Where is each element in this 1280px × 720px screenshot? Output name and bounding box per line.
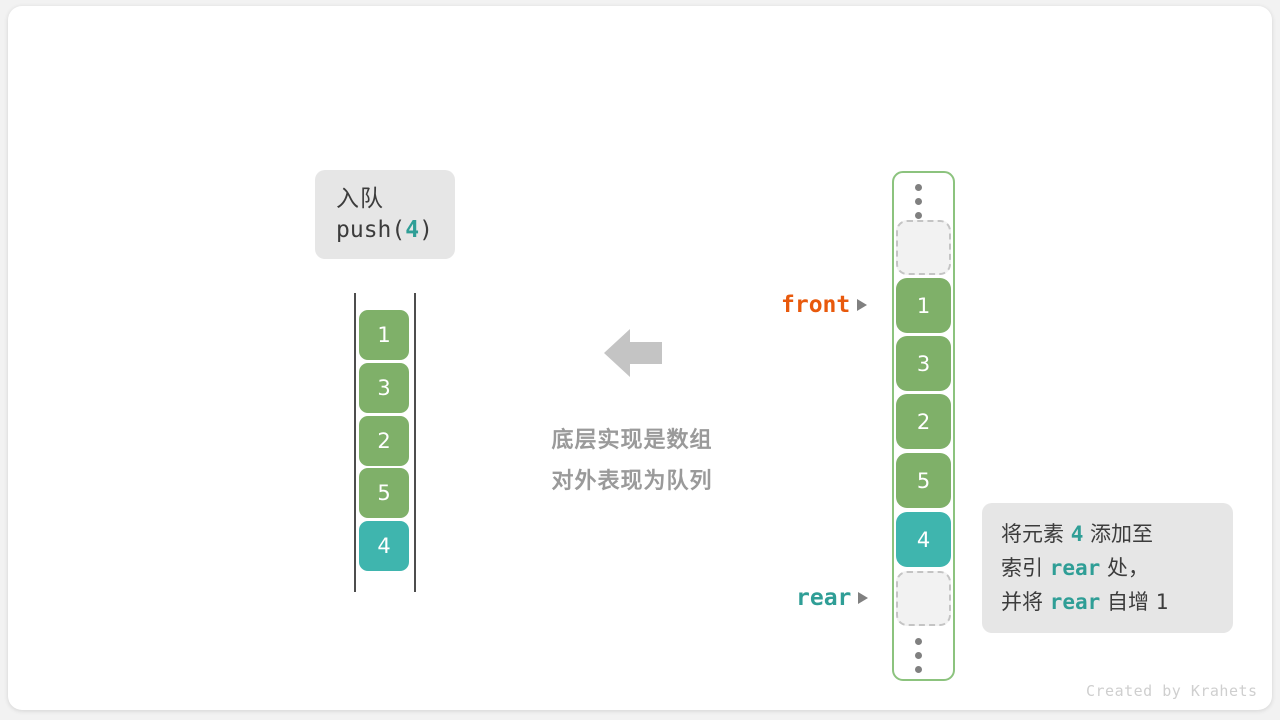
- diagram-card: 入队 push(4) 1 3 2 5 4 底层实现是数组 对外表现为队列 1 3…: [8, 6, 1272, 710]
- array-cell-value: 5: [917, 469, 930, 493]
- pointer-rear-label: rear: [796, 585, 851, 611]
- vertical-ellipsis-icon-bottom: [914, 638, 922, 673]
- pointer-arrow-icon: [857, 299, 867, 311]
- array-cell: 1: [896, 278, 951, 333]
- operation-call-value: 4: [405, 217, 419, 243]
- operation-call-prefix: push(: [336, 217, 405, 243]
- caption-line-1: 底层实现是数组: [508, 420, 756, 461]
- array-cell-value: 4: [917, 528, 930, 552]
- array-cell-value: 3: [917, 352, 930, 376]
- queue-cell: 3: [359, 363, 409, 413]
- queue-cell-value: 5: [377, 481, 390, 505]
- queue-cell-value: 3: [377, 376, 390, 400]
- array-cell-value: 1: [917, 294, 930, 318]
- array-cell-value: 2: [917, 410, 930, 434]
- pointer-front-label: front: [781, 292, 850, 318]
- caption-line-2: 对外表现为队列: [508, 461, 756, 502]
- array-slot-empty-top: [896, 220, 951, 275]
- queue-cell-value: 2: [377, 429, 390, 453]
- queue-cell: 5: [359, 468, 409, 518]
- array-cell: 5: [896, 453, 951, 508]
- array-cell-new: 4: [896, 512, 951, 567]
- arrow-left-icon: [604, 328, 662, 378]
- footer-credit: Created by Krahets: [1086, 682, 1258, 700]
- queue-cell-value: 4: [377, 534, 390, 558]
- operation-call-suffix: ): [419, 217, 433, 243]
- operation-label-box: 入队 push(4): [315, 170, 455, 259]
- pointer-arrow-icon: [858, 592, 868, 604]
- array-cell: 2: [896, 394, 951, 449]
- operation-call: push(4): [336, 214, 455, 246]
- queue-cell: 2: [359, 416, 409, 466]
- annotation-line-2: 索引 rear 处，: [1001, 551, 1233, 585]
- queue-cell-value: 1: [377, 323, 390, 347]
- pointer-front: front: [781, 292, 867, 318]
- annotation-box: 将元素 4 添加至 索引 rear 处， 并将 rear 自增 1: [982, 503, 1233, 633]
- queue-rail-right: [414, 293, 416, 592]
- annotation-line-3: 并将 rear 自增 1: [1001, 585, 1233, 619]
- center-caption: 底层实现是数组 对外表现为队列: [508, 420, 756, 502]
- array-slot-empty-bottom: [896, 571, 951, 626]
- annotation-line-1: 将元素 4 添加至: [1001, 517, 1233, 551]
- diagram-page: 入队 push(4) 1 3 2 5 4 底层实现是数组 对外表现为队列 1 3…: [0, 0, 1280, 720]
- pointer-rear: rear: [796, 585, 868, 611]
- operation-title: 入队: [336, 184, 455, 214]
- array-cell: 3: [896, 336, 951, 391]
- vertical-ellipsis-icon-top: [914, 184, 922, 219]
- queue-cell: 1: [359, 310, 409, 360]
- queue-rail-left: [354, 293, 356, 592]
- queue-cell-new: 4: [359, 521, 409, 571]
